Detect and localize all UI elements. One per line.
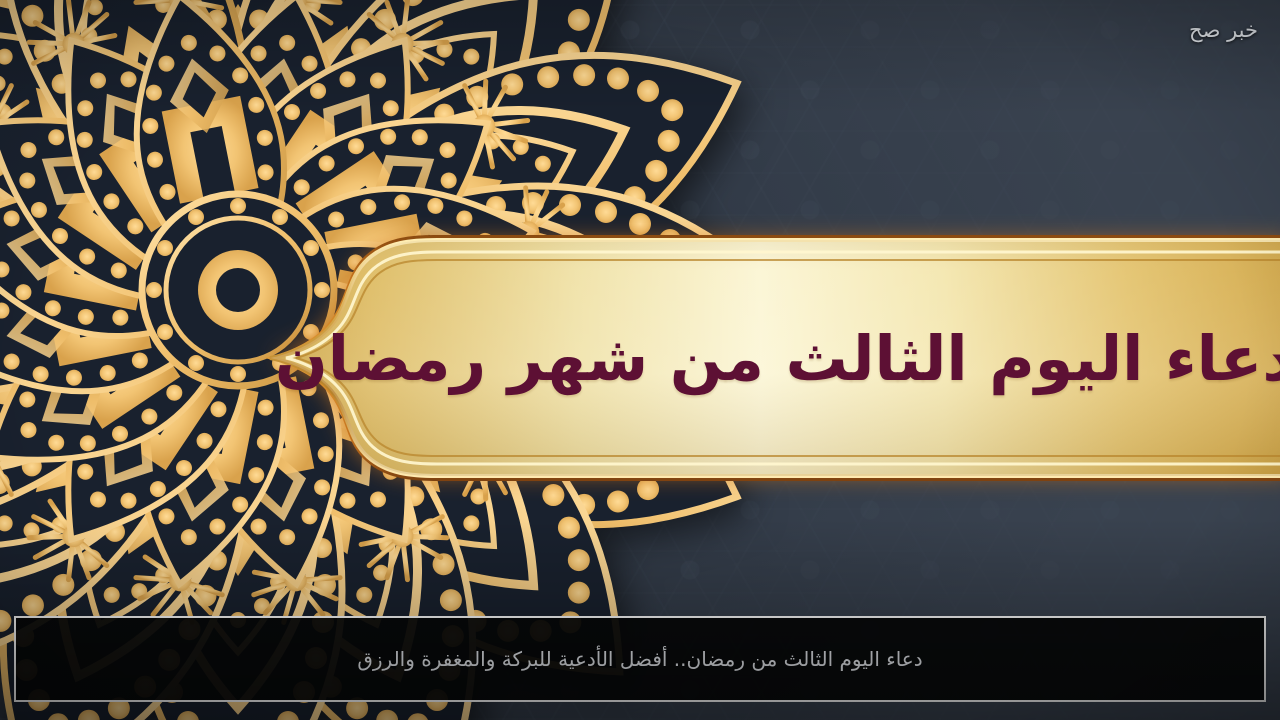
caption-text: دعاء اليوم الثالث من رمضان.. أفضل الأدعي… bbox=[357, 646, 922, 672]
ramadan-dua-banner: دعاء اليوم الثالث من شهر رمضان خبر صح دع… bbox=[0, 0, 1280, 720]
arched-plaque-icon: دعاء اليوم الثالث من شهر رمضان bbox=[262, 203, 1280, 513]
caption-bar: دعاء اليوم الثالث من رمضان.. أفضل الأدعي… bbox=[14, 616, 1266, 702]
plaque-shape bbox=[262, 203, 1280, 513]
channel-watermark: خبر صح bbox=[1189, 18, 1258, 42]
